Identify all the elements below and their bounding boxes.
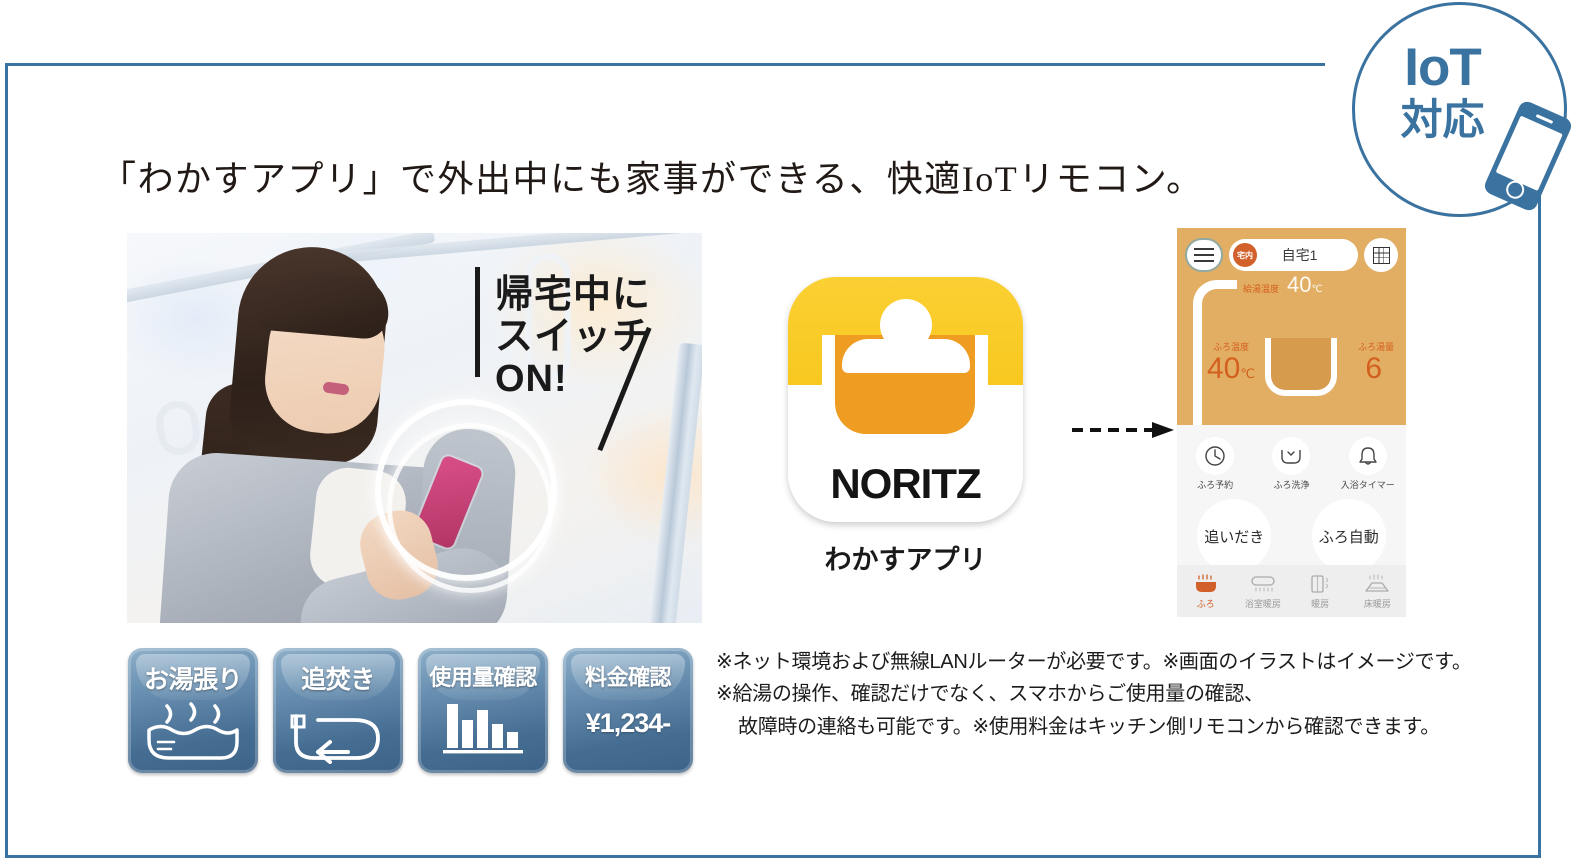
footnote-line-1: ※ネット環境および無線LANルーターが必要です。※画面のイラストはイメージです。 xyxy=(716,646,1472,678)
control-auto-bath-button[interactable]: ふろ自動 xyxy=(1312,499,1386,573)
bath-volume-value: 6 xyxy=(1365,352,1382,386)
floor-heater-icon xyxy=(1362,573,1392,595)
photo-overlay-copy: 帰宅中に スイッチ ON! xyxy=(495,275,651,400)
iot-badge-title: IoT xyxy=(1355,41,1530,95)
tab-label: 浴室暖房 xyxy=(1245,597,1281,610)
bell-icon xyxy=(1349,437,1387,475)
feature-button-price-value: ¥1,234- xyxy=(563,708,693,739)
control-label: ふろ予約 xyxy=(1184,478,1246,491)
feature-button-bath-fill[interactable]: お湯張り xyxy=(128,648,258,773)
feature-button-price[interactable]: 料金確認 ¥1,234- xyxy=(563,648,693,773)
bathtub-status-icon xyxy=(1265,338,1337,396)
photo-copy-line-3: ON! xyxy=(495,359,651,401)
home-status-badge: 宅内 xyxy=(1233,243,1257,267)
tab-label: 暖房 xyxy=(1311,597,1329,610)
iot-badge-text: IoT 対応 xyxy=(1355,41,1530,143)
hamburger-menu-icon[interactable] xyxy=(1185,238,1223,272)
shower-arc-icon xyxy=(1193,280,1237,334)
bath-clean-icon xyxy=(1272,437,1310,475)
bath-temp-number: 40 xyxy=(1207,352,1240,385)
hot-water-temp-value: 40℃ xyxy=(1287,272,1323,298)
bath-temp-value: 40℃ xyxy=(1207,352,1255,386)
page-headline: 「わかすアプリ」で外出中にも家事ができる、快適IoTリモコン。 xyxy=(100,150,1204,202)
grid-icon[interactable] xyxy=(1364,238,1398,272)
hot-water-temp-number: 40 xyxy=(1287,272,1311,297)
feature-button-reheat[interactable]: 追焚き xyxy=(273,648,403,773)
highlight-ring xyxy=(387,423,553,593)
feature-button-label: 使用量確認 xyxy=(418,660,548,692)
heater-icon xyxy=(1307,573,1333,595)
feature-button-row: お湯張り 追焚き 使用量確認 xyxy=(128,648,693,773)
bath-temp-unit: ℃ xyxy=(1240,366,1255,381)
app-control-panel: ふろ予約 ふろ洗浄 入浴タイマー xyxy=(1177,425,1406,565)
location-name: 自宅1 xyxy=(1257,245,1358,265)
tab-floor-heater[interactable]: 床暖房 xyxy=(1349,565,1406,617)
control-label: 入浴タイマー xyxy=(1337,478,1399,491)
bathtub-reheat-icon xyxy=(273,702,403,768)
iot-badge-subtitle: 対応 xyxy=(1355,97,1530,143)
tab-label: 床暖房 xyxy=(1364,597,1391,610)
feature-button-label: お湯張り xyxy=(128,660,258,696)
bathtub-steam-icon xyxy=(128,702,258,768)
footnote-line-3: 故障時の連絡も可能です。※使用料金はキッチン側リモコンから確認できます。 xyxy=(716,711,1472,743)
bar-chart-icon xyxy=(418,698,548,764)
feature-button-usage[interactable]: 使用量確認 xyxy=(418,648,548,773)
hot-water-temp-label: 給湯温度 xyxy=(1243,282,1279,295)
tab-bath[interactable]: ふろ xyxy=(1177,565,1234,617)
clock-icon xyxy=(1196,437,1234,475)
tab-label: ふろ xyxy=(1197,597,1215,610)
smartphone-speaker xyxy=(1536,114,1554,124)
noritz-app-icon: NORITZ xyxy=(788,277,1023,522)
control-reheat-button[interactable]: 追いだき xyxy=(1197,499,1271,573)
copy-accent-bar xyxy=(475,267,480,377)
photo-copy-line-2: スイッチ xyxy=(495,317,651,359)
bath-icon xyxy=(1193,573,1219,595)
control-bath-clean[interactable]: ふろ洗浄 xyxy=(1260,437,1322,491)
footnote-line-2: ※給湯の操作、確認だけでなく、スマホからご使用量の確認、 xyxy=(716,678,1472,710)
hot-water-temp-unit: ℃ xyxy=(1311,284,1322,295)
big-control-row: 追いだき ふろ自動 xyxy=(1177,499,1406,573)
control-label: ふろ洗浄 xyxy=(1260,478,1322,491)
app-top-bar: 宅内 自宅1 xyxy=(1185,238,1398,272)
bathroom-heater-icon xyxy=(1248,573,1278,595)
shower-stem-icon xyxy=(1193,332,1202,426)
control-bath-timer[interactable]: 入浴タイマー xyxy=(1337,437,1399,491)
iot-badge: IoT 対応 xyxy=(1352,2,1567,217)
photo-copy-line-1: 帰宅中に xyxy=(495,275,651,317)
brand-name: NORITZ xyxy=(788,460,1023,508)
location-selector[interactable]: 宅内 自宅1 xyxy=(1229,239,1358,271)
control-bath-reservation[interactable]: ふろ予約 xyxy=(1184,437,1246,491)
small-control-row: ふろ予約 ふろ洗浄 入浴タイマー xyxy=(1177,425,1406,491)
app-caption: わかすアプリ xyxy=(788,538,1023,577)
grid-glyph xyxy=(1373,247,1390,264)
tab-bathroom-heater[interactable]: 浴室暖房 xyxy=(1234,565,1291,617)
hero-photo: 帰宅中に スイッチ ON! xyxy=(127,233,702,623)
footnotes: ※ネット環境および無線LANルーターが必要です。※画面のイラストはイメージです。… xyxy=(716,646,1472,743)
remote-app-screen: 宅内 自宅1 給湯温度 40℃ ふろ温度 40℃ ふろ湯量 6 xyxy=(1177,228,1406,617)
app-icon-block: NORITZ わかすアプリ xyxy=(788,277,1023,577)
dashed-arrow-right-icon xyxy=(1072,422,1176,438)
feature-button-label: 料金確認 xyxy=(563,660,693,692)
person-body-icon xyxy=(842,339,970,373)
tab-heater[interactable]: 暖房 xyxy=(1292,565,1349,617)
app-status-panel: 宅内 自宅1 給湯温度 40℃ ふろ温度 40℃ ふろ湯量 6 xyxy=(1177,228,1406,425)
app-tab-bar: ふろ 浴室暖房 暖房 xyxy=(1177,565,1406,617)
feature-button-label: 追焚き xyxy=(273,660,403,696)
